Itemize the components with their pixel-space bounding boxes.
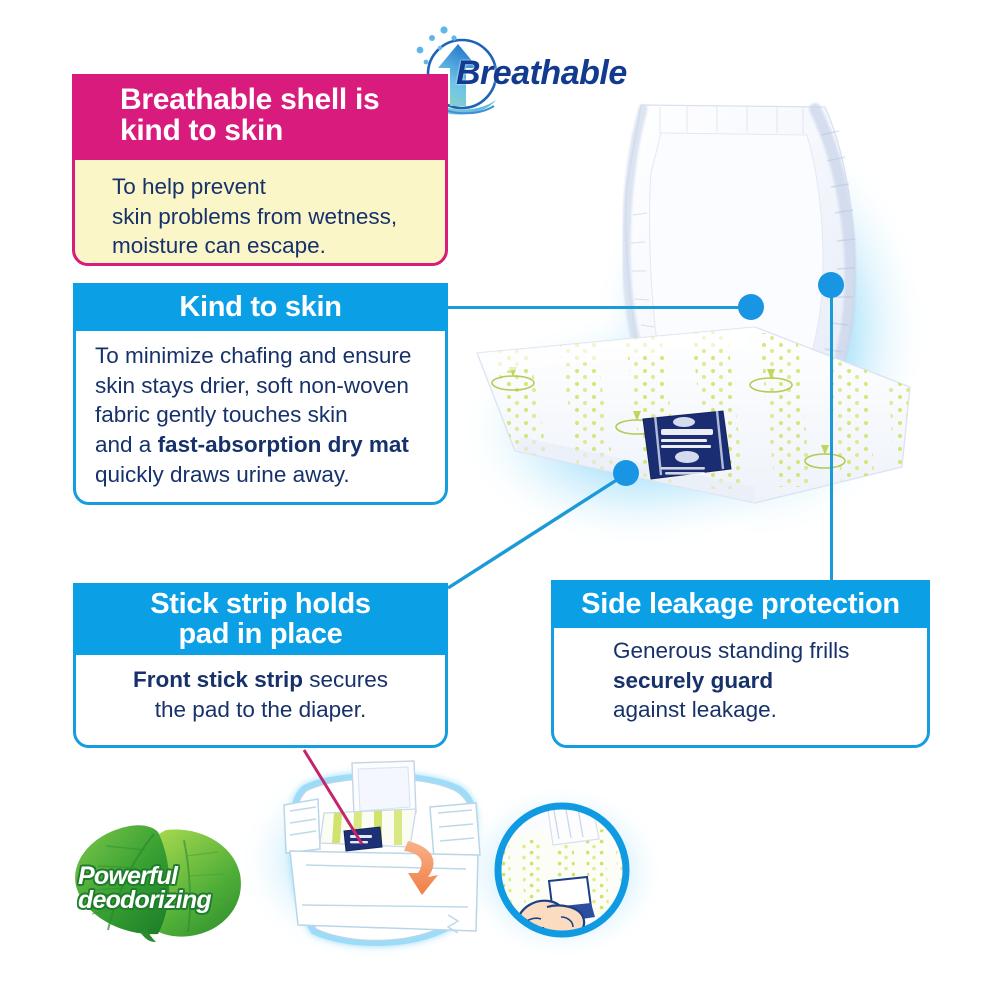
line1-suffix: secures <box>303 667 388 692</box>
card-stick-strip-body-line2: the pad to the diaper. <box>83 695 438 725</box>
card-breathable-shell-header: Breathable shell is kind to skin <box>72 74 448 160</box>
card-kind-to-skin-header: Kind to skin <box>73 283 448 331</box>
card-breathable-shell-body-line1: To help prevent <box>112 172 430 202</box>
card-breathable-shell-body-line3: moisture can escape. <box>112 231 430 261</box>
line4-emphasis: fast-absorption dry mat <box>158 432 409 457</box>
card-stick-strip-title-line1: Stick strip holds <box>150 588 371 620</box>
breathable-badge-label: Breathable <box>456 54 627 93</box>
card-kind-to-skin-body-line2: skin stays drier, soft non-woven <box>95 371 436 401</box>
card-side-leakage-title: Side leakage protection <box>581 589 900 619</box>
card-side-leakage-body-line1: Generous standing frills <box>613 636 920 666</box>
card-stick-strip: Stick strip holds pad in place Front sti… <box>73 583 448 748</box>
card-side-leakage-body-line3: against leakage. <box>613 695 920 725</box>
card-kind-to-skin-body-line4: and a fast-absorption dry mat <box>95 430 436 460</box>
deodorizing-line-2: deodorizing <box>78 886 211 914</box>
stick-strip-closeup-inset <box>487 795 637 945</box>
deodorizing-badge: Powerful deodorizing <box>62 812 272 942</box>
callout-dot-kind-to-skin <box>738 294 764 320</box>
card-kind-to-skin: Kind to skin To minimize chafing and ens… <box>73 283 448 505</box>
callout-dot-side-leakage <box>818 272 844 298</box>
card-side-leakage-header: Side leakage protection <box>551 580 930 628</box>
deodorizing-badge-label: Powerful deodorizing <box>78 864 268 913</box>
card-stick-strip-body-line1: Front stick strip secures <box>83 665 438 695</box>
callout-pointer-insert <box>300 748 390 858</box>
line4-prefix: and a <box>95 432 158 457</box>
card-kind-to-skin-body-line5: quickly draws urine away. <box>95 460 436 490</box>
card-breathable-shell: Breathable shell is kind to skin To help… <box>72 74 448 266</box>
infographic-canvas: Breathable <box>0 0 1000 1000</box>
card-kind-to-skin-title: Kind to skin <box>179 292 341 322</box>
card-stick-strip-body: Front stick strip secures the pad to the… <box>73 655 448 748</box>
card-kind-to-skin-body: To minimize chafing and ensure skin stay… <box>73 331 448 505</box>
card-breathable-shell-body-line2: skin problems from wetness, <box>112 202 430 232</box>
card-stick-strip-title-line2: pad in place <box>179 618 343 650</box>
pad-instruction-label <box>643 411 731 479</box>
callout-line-side-leakage <box>830 292 833 582</box>
callout-line-kind-to-skin <box>448 306 750 309</box>
card-kind-to-skin-body-line3: fabric gently touches skin <box>95 400 436 430</box>
card-side-leakage: Side leakage protection Generous standin… <box>551 580 930 748</box>
card-stick-strip-header: Stick strip holds pad in place <box>73 583 448 655</box>
card-side-leakage-body-line2: securely guard <box>613 666 920 696</box>
card-kind-to-skin-body-line1: To minimize chafing and ensure <box>95 341 436 371</box>
card-side-leakage-body: Generous standing frills securely guard … <box>551 628 930 748</box>
card-breathable-shell-title-line1: Breathable shell is <box>120 84 379 116</box>
card-breathable-shell-body: To help prevent skin problems from wetne… <box>72 160 448 266</box>
callout-dot-stick-strip <box>613 460 639 486</box>
line1-emphasis: Front stick strip <box>133 667 303 692</box>
card-breathable-shell-title-line2: kind to skin <box>120 115 379 147</box>
